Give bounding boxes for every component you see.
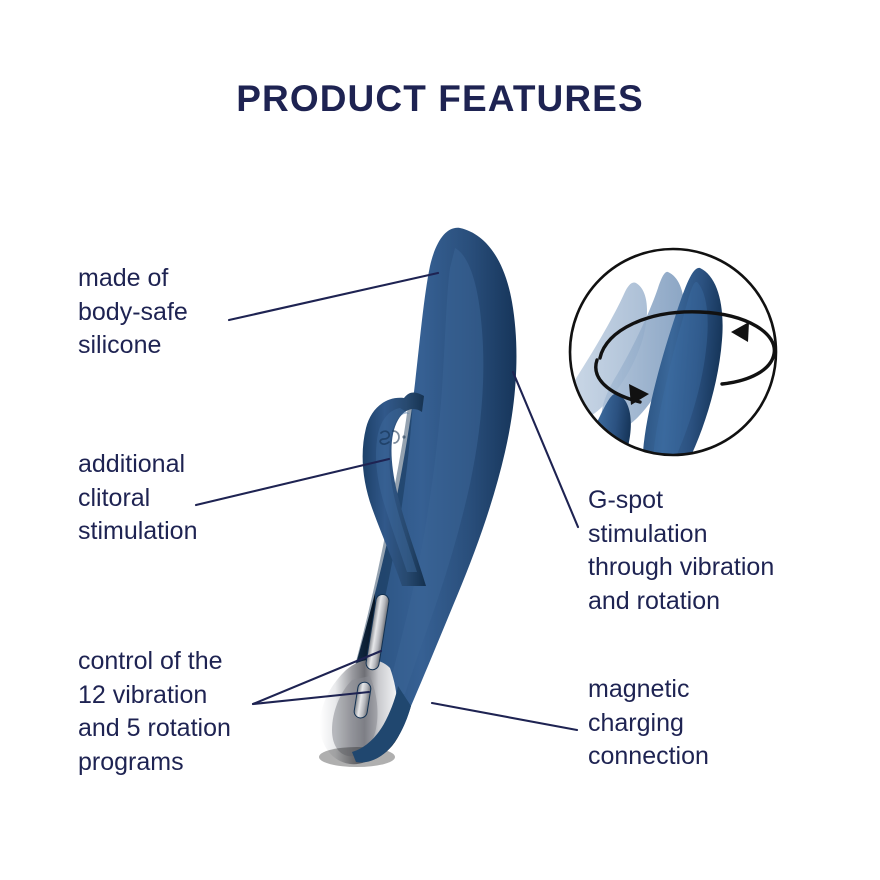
callout-additional-clitoral-stimulation: additional clitoral stimulation xyxy=(78,448,318,549)
callout-g-spot-stimulation: G-spot stimulation through vibration and… xyxy=(588,484,848,618)
product-features-infographic: PRODUCT FEATURES xyxy=(0,0,880,880)
callout-magnetic-charging-connection: magnetic charging connection xyxy=(588,673,838,774)
rotation-arrow-right-head xyxy=(731,322,749,342)
callout-control-of-programs: control of the 12 vibration and 5 rotati… xyxy=(78,645,348,779)
callout-made-of-body-safe-silicone: made of body-safe silicone xyxy=(78,262,308,363)
rotation-detail-inset xyxy=(567,249,776,496)
